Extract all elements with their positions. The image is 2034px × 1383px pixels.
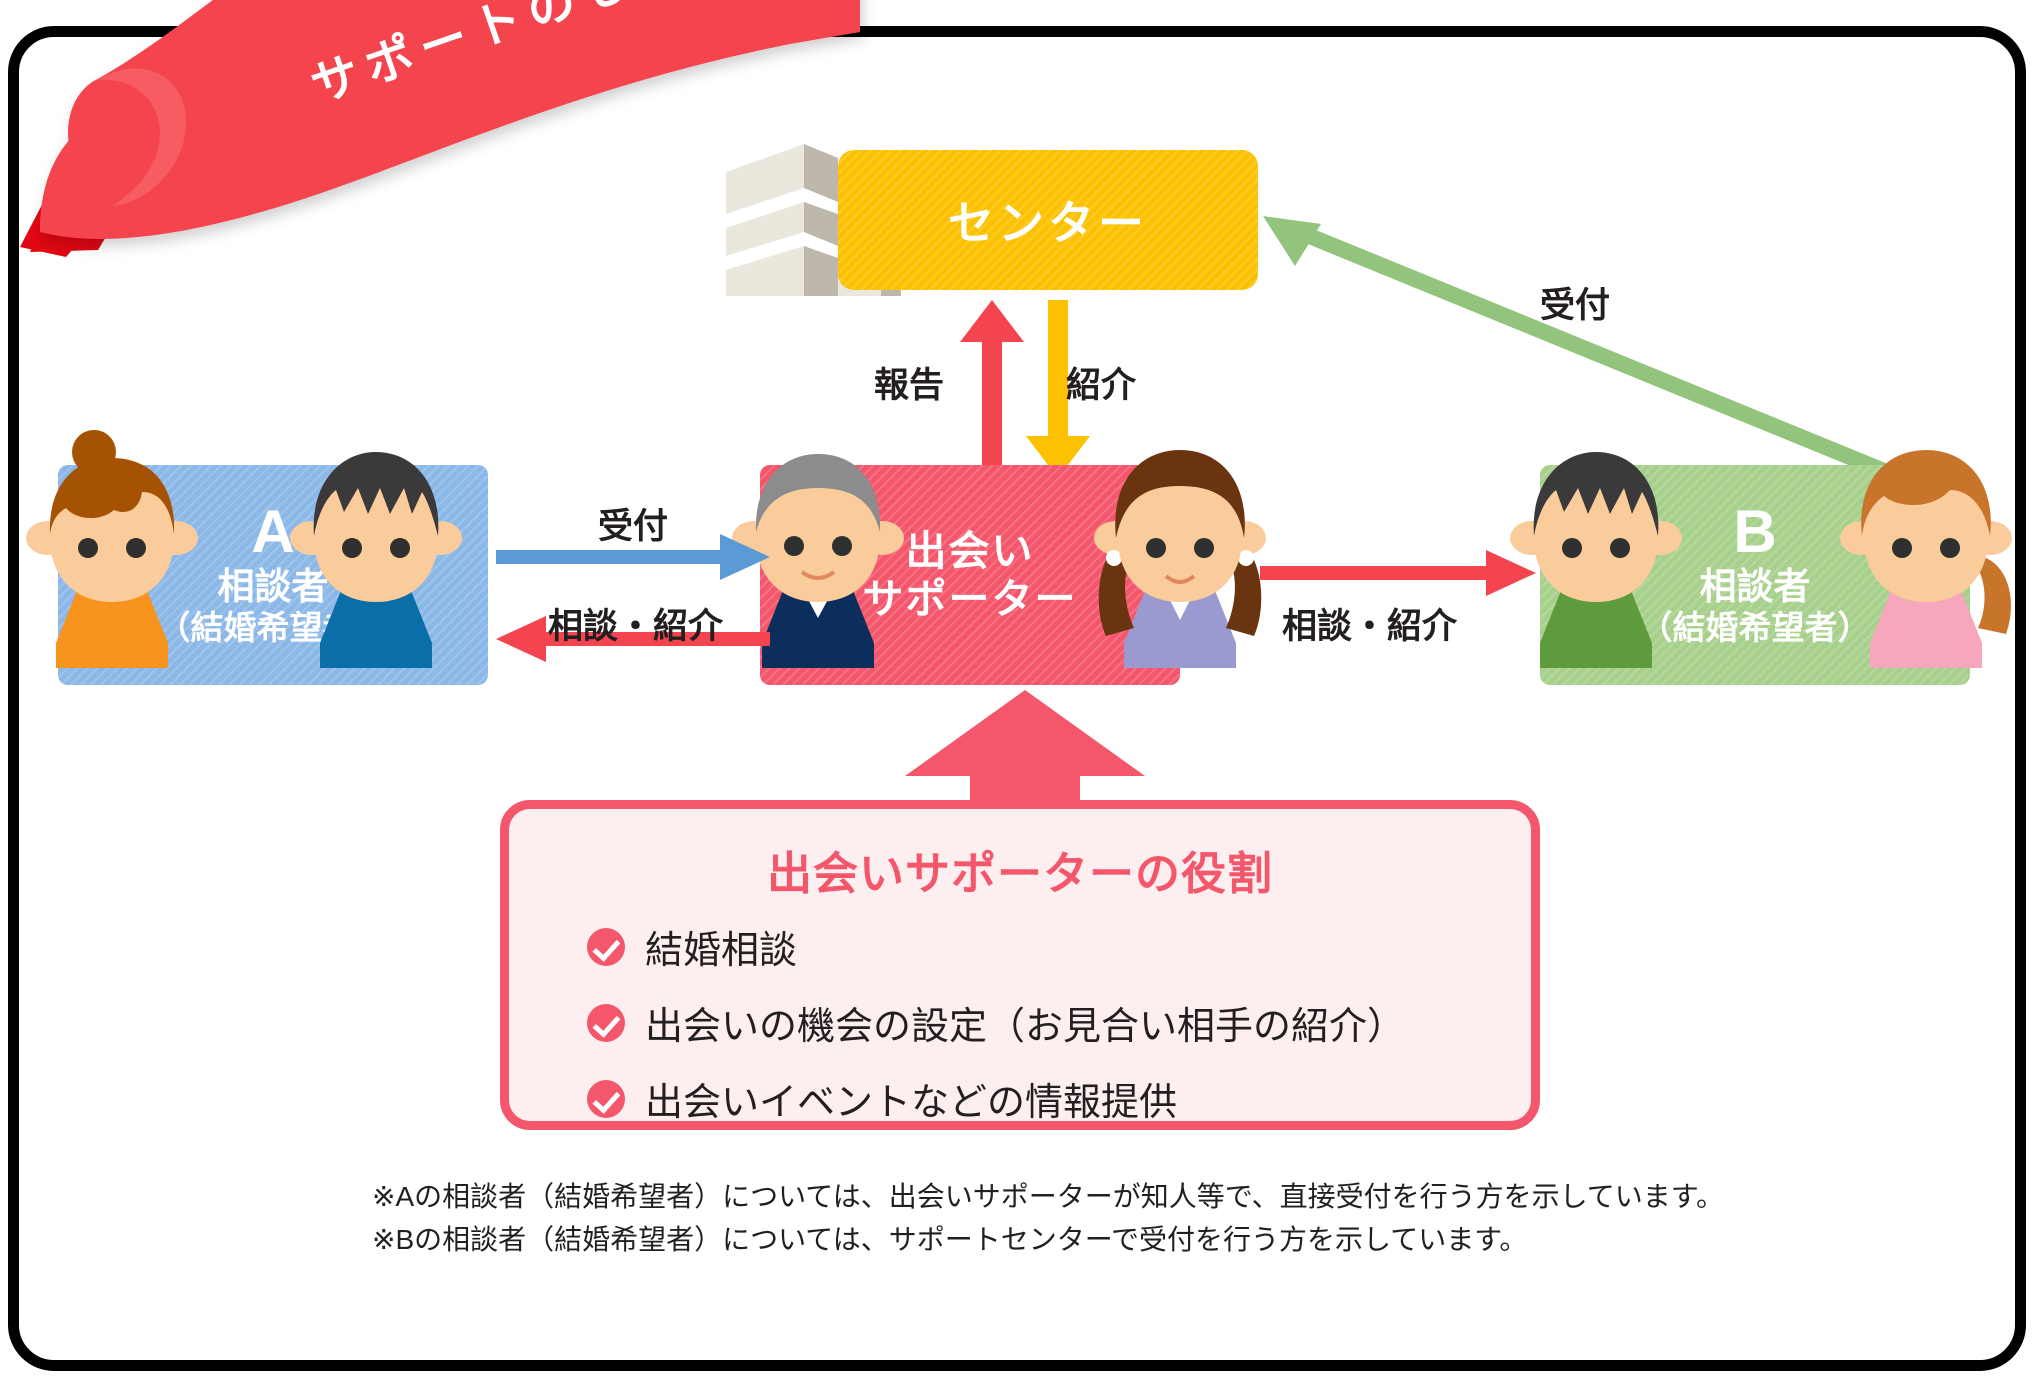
supporter-label-line1: 出会い	[906, 527, 1035, 575]
report-arrow-icon	[960, 300, 1024, 478]
center-box: センター	[838, 150, 1258, 290]
check-icon	[587, 1080, 625, 1118]
role-item-label: 出会いイベントなどの情報提供	[645, 1071, 1177, 1126]
footnote-b: ※Bの相談者（結婚希望者）については、サポートセンターで受付を行う方を示していま…	[372, 1218, 1792, 1261]
reception-b-label: 受付	[1540, 277, 1610, 328]
avatar-b-female	[1836, 438, 2016, 668]
list-item: 出会いの機会の設定（お見合い相手の紹介）	[587, 995, 1405, 1050]
center-label: センター	[948, 187, 1148, 253]
avatar-a-female	[22, 438, 202, 668]
role-item-label: 結婚相談	[645, 919, 797, 974]
party-b-letter: B	[1733, 502, 1776, 562]
consult-to-b-arrow-icon	[1260, 550, 1536, 596]
consult-b-label: 相談・紹介	[1282, 598, 1457, 649]
check-icon	[587, 1004, 625, 1042]
list-item: 結婚相談	[587, 919, 1405, 974]
footnote-a: ※Aの相談者（結婚希望者）については、出会いサポーターが知人等で、直接受付を行う…	[372, 1175, 1792, 1218]
avatar-supporter-female	[1090, 438, 1270, 668]
role-panel-title: 出会いサポーターの役割	[509, 837, 1531, 902]
footnotes: ※Aの相談者（結婚希望者）については、出会いサポーターが知人等で、直接受付を行う…	[372, 1175, 1792, 1262]
role-panel: 出会いサポーターの役割 結婚相談 出会いの機会の設定（お見合い相手の紹介） 出会…	[500, 800, 1540, 1130]
list-item: 出会いイベントなどの情報提供	[587, 1071, 1405, 1126]
consult-a-label: 相談・紹介	[548, 598, 723, 649]
supporter-b-arrow	[1252, 548, 1542, 598]
avatar-a-male	[286, 438, 466, 668]
reception-a-label: 受付	[598, 498, 668, 549]
diagram-root: サポートのしくみ センター	[0, 0, 2034, 1383]
check-icon	[587, 928, 625, 966]
introduce-label: 紹介	[1066, 357, 1136, 408]
report-label: 報告	[874, 357, 944, 408]
role-panel-list: 結婚相談 出会いの機会の設定（お見合い相手の紹介） 出会いイベントなどの情報提供	[587, 919, 1405, 1147]
role-item-label: 出会いの機会の設定（お見合い相手の紹介）	[645, 995, 1405, 1050]
party-b-role: 相談者	[1700, 566, 1811, 609]
